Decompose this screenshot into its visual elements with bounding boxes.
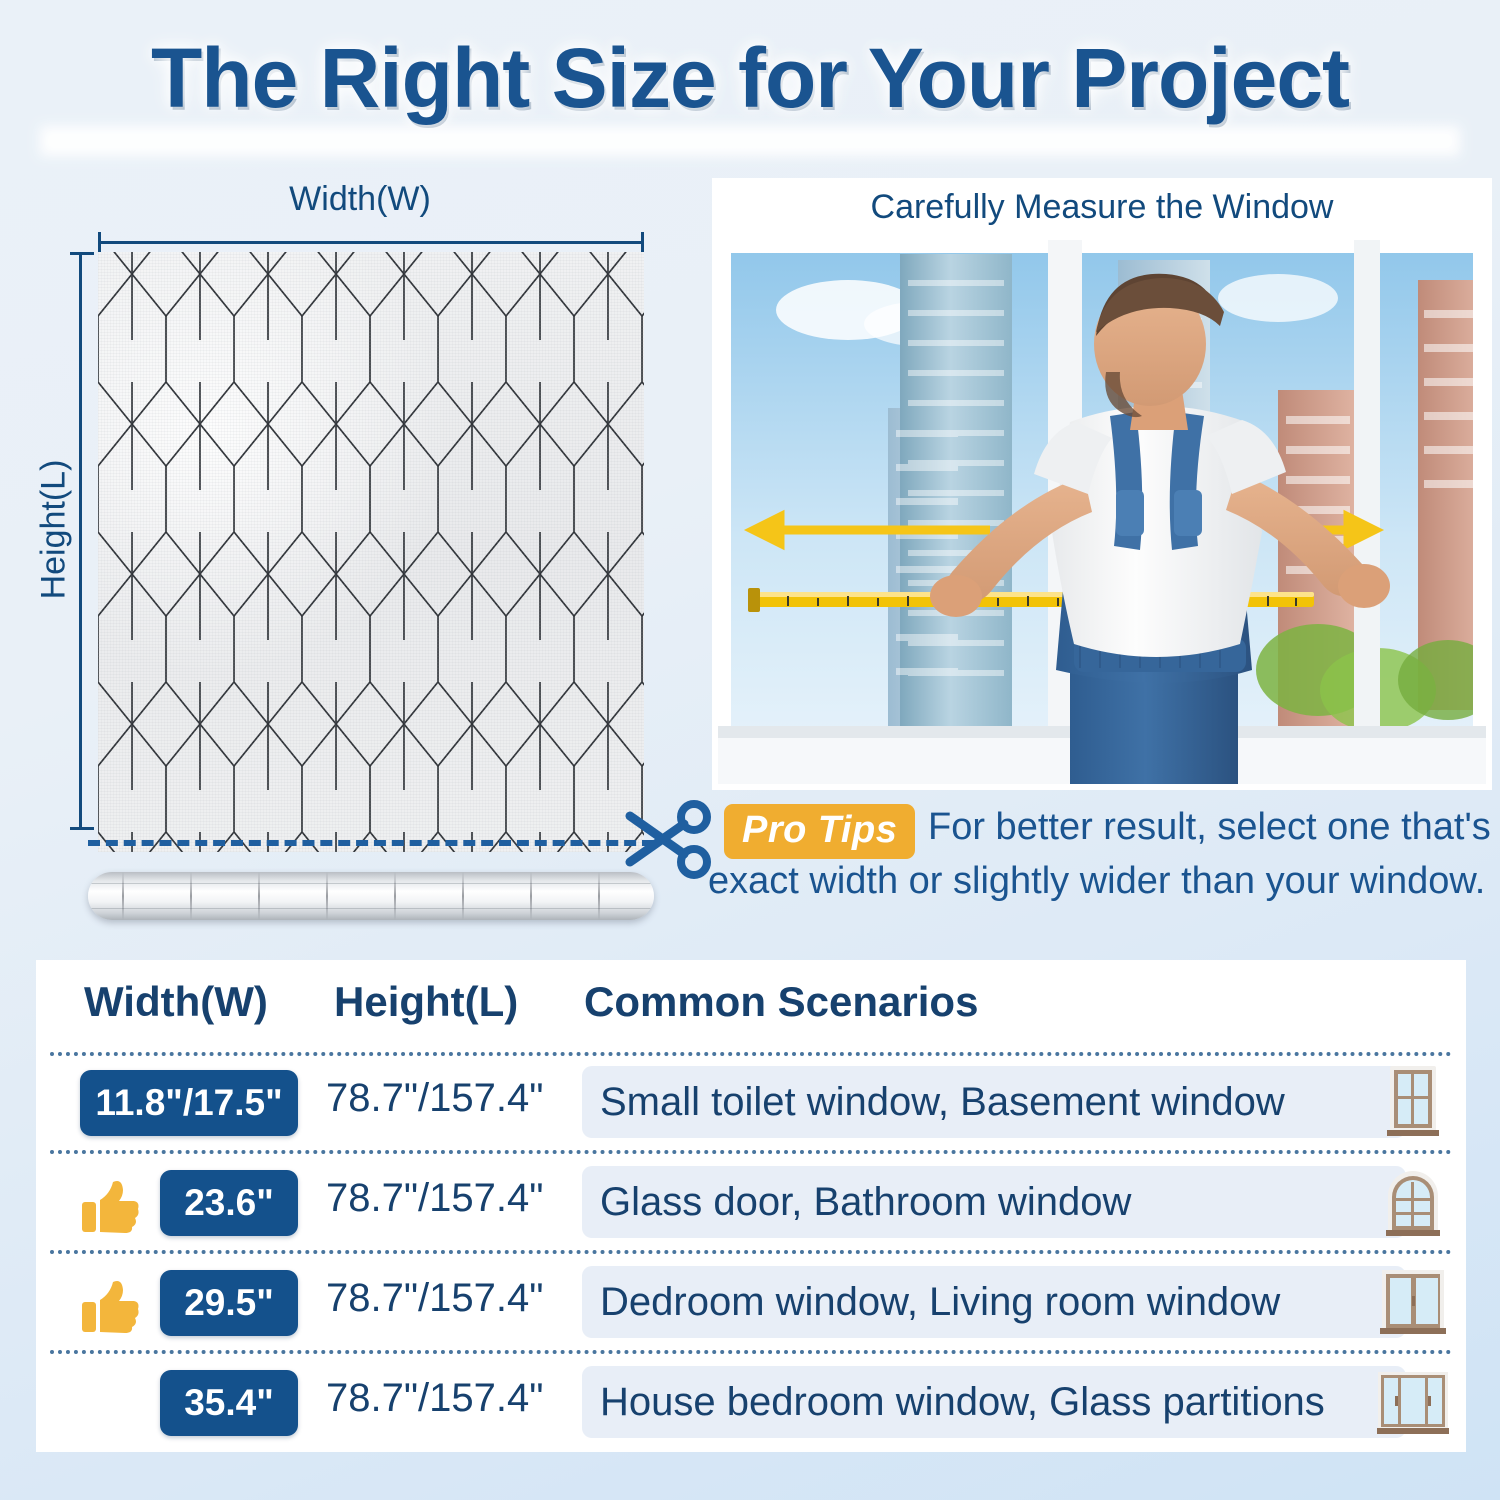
- infographic-root: The Right Size for Your Project Width(W)…: [0, 0, 1500, 1500]
- scenario-chip: Dedroom window, Living room window: [582, 1266, 1406, 1338]
- film-pattern: [98, 252, 644, 852]
- pro-tips-section: Pro Tips For better result, select one t…: [706, 800, 1496, 920]
- height-tick-top: [70, 252, 94, 255]
- film-roll: [88, 872, 654, 920]
- width-badge: 23.6": [160, 1170, 298, 1236]
- width-badge: 11.8"/17.5": [80, 1070, 298, 1136]
- table-row[interactable]: 29.5" 78.7"/157.4" Dedroom window, Livin…: [36, 1264, 1466, 1356]
- divider: [50, 1052, 1452, 1056]
- height-bar: [79, 252, 82, 830]
- size-table: Width(W) Height(L) Common Scenarios 11.8…: [36, 960, 1466, 1452]
- height-value: 78.7"/157.4": [326, 1076, 566, 1121]
- height-value: 78.7"/157.4": [326, 1276, 566, 1321]
- window-triple-pane-icon: [1374, 1362, 1452, 1446]
- size-diagram: Width(W) Height(L): [20, 180, 700, 940]
- header-height: Height(L): [334, 978, 518, 1026]
- width-dimension-line: [98, 232, 644, 252]
- cut-line: [88, 840, 654, 846]
- height-tick-bottom: [70, 827, 94, 830]
- width-bar: [98, 241, 644, 244]
- window-double-pane-icon: [1374, 1262, 1452, 1346]
- height-value: 78.7"/157.4": [326, 1376, 566, 1421]
- header-width: Width(W): [84, 978, 268, 1026]
- thumbs-up-icon: [80, 1276, 140, 1338]
- window-single-pane-icon: [1374, 1062, 1452, 1146]
- scenario-chip: House bedroom window, Glass partitions: [582, 1366, 1406, 1438]
- photo-measuring-window: [718, 240, 1486, 784]
- page-title-band: The Right Size for Your Project: [0, 18, 1500, 138]
- pro-tips-line-2: exact width or slightly wider than your …: [708, 860, 1485, 903]
- diagram-height-label: Height(L): [35, 400, 74, 660]
- diagram-width-label: Width(W): [20, 180, 700, 219]
- title-glow-bar: [40, 126, 1460, 156]
- height-value: 78.7"/157.4": [326, 1176, 566, 1221]
- width-tick-right: [641, 232, 644, 254]
- table-row[interactable]: 23.6" 78.7"/157.4" Glass door, Bathroom …: [36, 1164, 1466, 1256]
- window-arched-icon: [1374, 1162, 1452, 1246]
- window-film-sheet: [98, 252, 644, 852]
- header-scenarios: Common Scenarios: [584, 978, 978, 1026]
- thumbs-up-icon: [80, 1176, 140, 1238]
- page-title: The Right Size for Your Project: [151, 30, 1349, 127]
- pro-tips-badge: Pro Tips: [724, 804, 915, 859]
- scenario-chip: Small toilet window, Basement window: [582, 1066, 1406, 1138]
- pro-tips-line-1: For better result, select one that's: [928, 806, 1491, 849]
- measure-photo-card: Carefully Measure the Window: [712, 178, 1492, 790]
- width-badge: 29.5": [160, 1270, 298, 1336]
- width-badge: 35.4": [160, 1370, 298, 1436]
- scenario-chip: Glass door, Bathroom window: [582, 1166, 1406, 1238]
- table-row[interactable]: 11.8"/17.5" 78.7"/157.4" Small toilet wi…: [36, 1064, 1466, 1156]
- table-header-row: Width(W) Height(L) Common Scenarios: [36, 978, 1466, 1040]
- table-row[interactable]: 35.4" 78.7"/157.4" House bedroom window,…: [36, 1364, 1466, 1456]
- height-dimension-line: [70, 252, 92, 830]
- photo-title: Carefully Measure the Window: [712, 188, 1492, 227]
